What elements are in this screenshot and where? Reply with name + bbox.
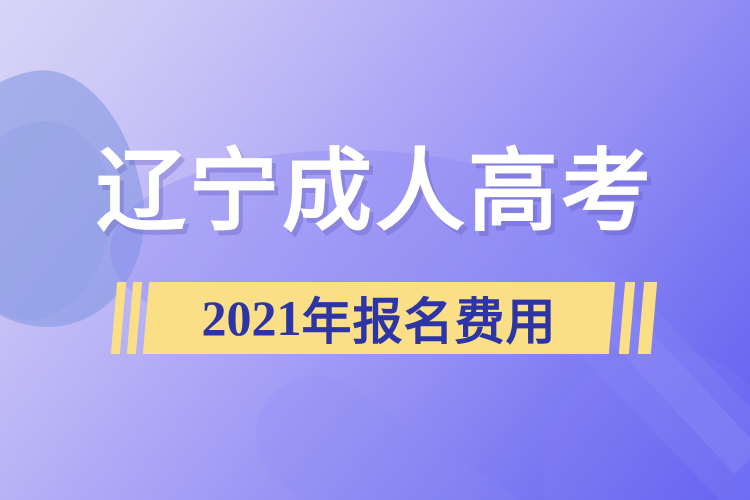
subtitle-rest: 年报名费用 xyxy=(302,282,557,354)
accent-bar-right-inner-icon xyxy=(619,282,635,354)
poster-canvas: 辽宁成人高考 2021年报名费用 xyxy=(0,0,750,500)
accent-bar-left-outer-icon xyxy=(111,282,126,354)
page-title: 辽宁成人高考 xyxy=(0,138,750,246)
subtitle-text: 2021年报名费用 xyxy=(146,282,612,354)
accent-bar-left-inner-icon xyxy=(127,282,142,354)
accent-bar-right-outer-icon xyxy=(638,282,657,354)
subtitle-ribbon: 2021年报名费用 xyxy=(0,282,750,360)
subtitle-year: 2021 xyxy=(202,289,302,347)
